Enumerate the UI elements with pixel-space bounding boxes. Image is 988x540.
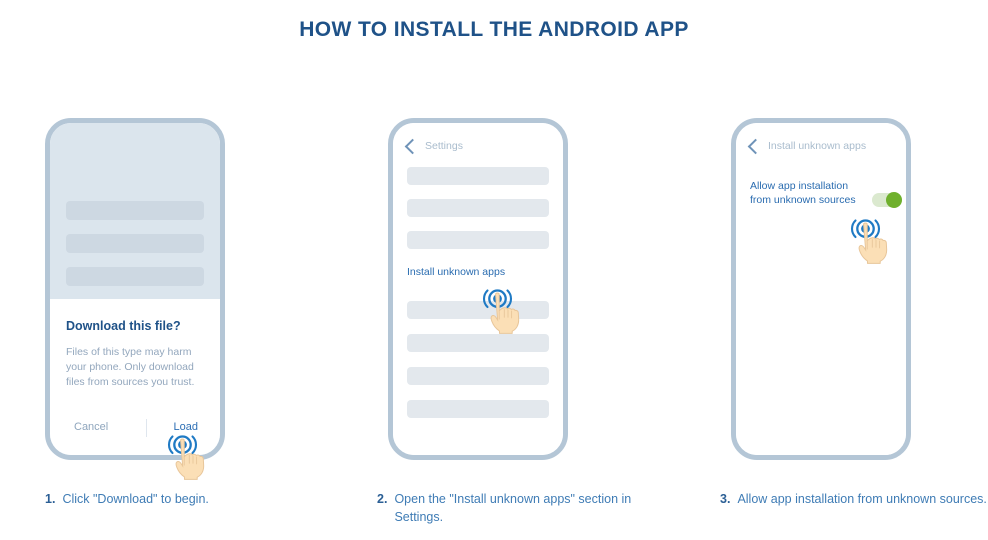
skeleton-bar: [407, 199, 549, 217]
step-3-caption: 3. Allow app installation from unknown s…: [720, 490, 988, 508]
nav-back-install-unknown-apps[interactable]: Install unknown apps: [750, 140, 866, 152]
download-dialog: Download this file? Files of this type m…: [50, 299, 220, 455]
skeleton-bar: [407, 367, 549, 385]
skeleton-bar: [407, 167, 549, 185]
step-1: Download this file? Files of this type m…: [12, 118, 332, 538]
install-unknown-apps-link[interactable]: Install unknown apps: [407, 266, 505, 278]
nav-back-settings[interactable]: Settings: [407, 140, 463, 152]
cancel-button[interactable]: Cancel: [74, 421, 108, 433]
step-caption-text: Click "Download" to begin.: [62, 490, 208, 508]
dialog-body-text: Files of this type may harm your phone. …: [66, 345, 208, 390]
nav-title: Install unknown apps: [768, 140, 866, 152]
allow-install-toggle[interactable]: [872, 193, 902, 207]
step-1-caption: 1. Click "Download" to begin.: [45, 490, 315, 508]
chevron-left-icon: [405, 138, 421, 154]
skeleton-bar: [66, 267, 204, 286]
page-title: HOW TO INSTALL THE ANDROID APP: [0, 18, 988, 42]
allow-install-label: Allow app installation from unknown sour…: [750, 179, 870, 207]
step-2: Settings Install unknown apps: [355, 118, 675, 538]
step-number: 2.: [377, 490, 387, 526]
dialog-divider: [146, 419, 147, 437]
skeleton-bar: [407, 301, 549, 319]
nav-title: Settings: [425, 140, 463, 152]
skeleton-bar: [66, 201, 204, 220]
phone-2-screen: Settings Install unknown apps: [393, 123, 563, 455]
skeleton-bar: [407, 334, 549, 352]
phone-mockup-2: Settings Install unknown apps: [388, 118, 568, 460]
skeleton-bar: [407, 400, 549, 418]
toggle-knob: [886, 192, 902, 208]
phone-mockup-1: Download this file? Files of this type m…: [45, 118, 225, 460]
chevron-left-icon: [748, 138, 764, 154]
step-2-caption: 2. Open the "Install unknown apps" secti…: [377, 490, 667, 526]
skeleton-bar: [66, 234, 204, 253]
dialog-title: Download this file?: [66, 319, 206, 333]
skeleton-bar: [407, 231, 549, 249]
steps-container: Download this file? Files of this type m…: [0, 118, 988, 538]
step-number: 1.: [45, 490, 55, 508]
dialog-actions: Cancel Load: [50, 419, 220, 443]
step-caption-text: Open the "Install unknown apps" section …: [394, 490, 667, 526]
step-number: 3.: [720, 490, 730, 508]
phone-mockup-3: Install unknown apps Allow app installat…: [731, 118, 911, 460]
step-3: Install unknown apps Allow app installat…: [698, 118, 988, 538]
step-caption-text: Allow app installation from unknown sour…: [737, 490, 986, 508]
phone-3-screen: Install unknown apps Allow app installat…: [736, 123, 906, 455]
load-button[interactable]: Load: [174, 421, 198, 433]
